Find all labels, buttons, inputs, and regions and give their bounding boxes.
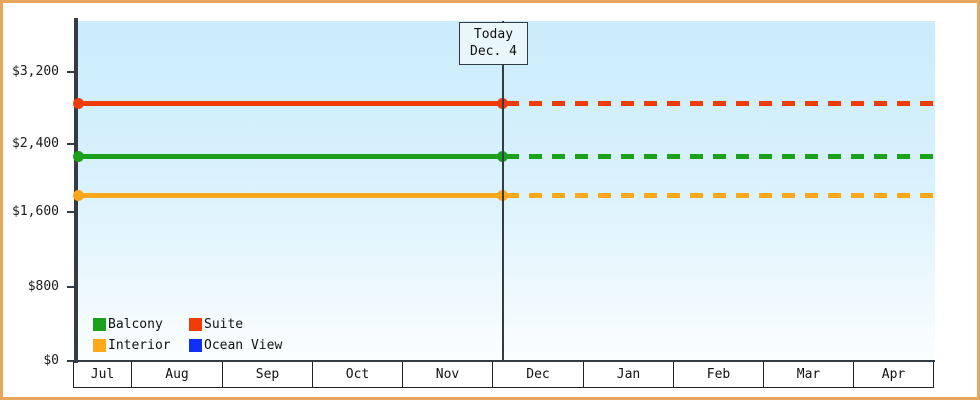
chart-frame: $3,200 $2,400 $1,600 $800 $0 Today Dec. … — [0, 0, 980, 400]
x-axis-month-row: Jul Aug Sep Oct Nov Dec Jan Feb Mar Apr — [73, 362, 934, 388]
legend-item-ocean-view[interactable]: Ocean View — [189, 338, 282, 353]
legend-swatch-balcony — [93, 318, 106, 331]
legend-item-balcony[interactable]: Balcony — [93, 317, 189, 332]
series-point-balcony-start — [73, 151, 84, 162]
x-axis-month-feb[interactable]: Feb — [674, 362, 764, 388]
x-axis-month-sep[interactable]: Sep — [223, 362, 313, 388]
y-tick-800 — [67, 286, 78, 288]
legend-label-interior: Interior — [108, 338, 171, 353]
legend-item-interior[interactable]: Interior — [93, 338, 189, 353]
y-tick-label-1600: $1,600 — [12, 204, 59, 219]
today-label-line1: Today — [470, 26, 517, 43]
y-tick-label-800: $800 — [28, 279, 59, 294]
x-axis-month-dec[interactable]: Dec — [493, 362, 584, 388]
legend-swatch-suite — [189, 318, 202, 331]
series-point-interior-start — [73, 190, 84, 201]
series-line-interior-actual — [78, 193, 506, 198]
y-tick-1600 — [67, 211, 78, 213]
y-tick-label-0: $0 — [43, 353, 59, 368]
x-axis-month-jan[interactable]: Jan — [584, 362, 674, 388]
today-marker-label: Today Dec. 4 — [459, 22, 528, 65]
legend-swatch-interior — [93, 339, 106, 352]
x-axis-month-apr[interactable]: Apr — [854, 362, 934, 388]
today-label-line2: Dec. 4 — [470, 43, 517, 60]
x-axis-month-aug[interactable]: Aug — [132, 362, 223, 388]
y-tick-2400 — [67, 143, 78, 145]
x-axis-month-nov[interactable]: Nov — [403, 362, 493, 388]
y-tick-label-2400: $2,400 — [12, 136, 59, 151]
series-line-balcony-forecast — [506, 154, 935, 159]
legend-item-suite[interactable]: Suite — [189, 317, 282, 332]
series-point-suite-start — [73, 98, 84, 109]
series-line-balcony-actual — [78, 154, 506, 159]
x-axis-month-mar[interactable]: Mar — [764, 362, 854, 388]
y-tick-3200 — [67, 71, 78, 73]
series-line-suite-actual — [78, 101, 506, 106]
today-marker-line — [502, 21, 504, 360]
x-axis-month-oct[interactable]: Oct — [313, 362, 403, 388]
series-line-interior-forecast — [506, 193, 935, 198]
legend-label-balcony: Balcony — [108, 317, 163, 332]
series-line-suite-forecast — [506, 101, 935, 106]
legend-label-suite: Suite — [204, 317, 243, 332]
legend-swatch-ocean-view — [189, 339, 202, 352]
plot-area — [78, 21, 935, 360]
legend-label-ocean-view: Ocean View — [204, 338, 282, 353]
chart-legend: Balcony Suite Interior Ocean View — [93, 314, 282, 356]
y-tick-label-3200: $3,200 — [12, 64, 59, 79]
x-axis-month-jul[interactable]: Jul — [73, 362, 132, 388]
